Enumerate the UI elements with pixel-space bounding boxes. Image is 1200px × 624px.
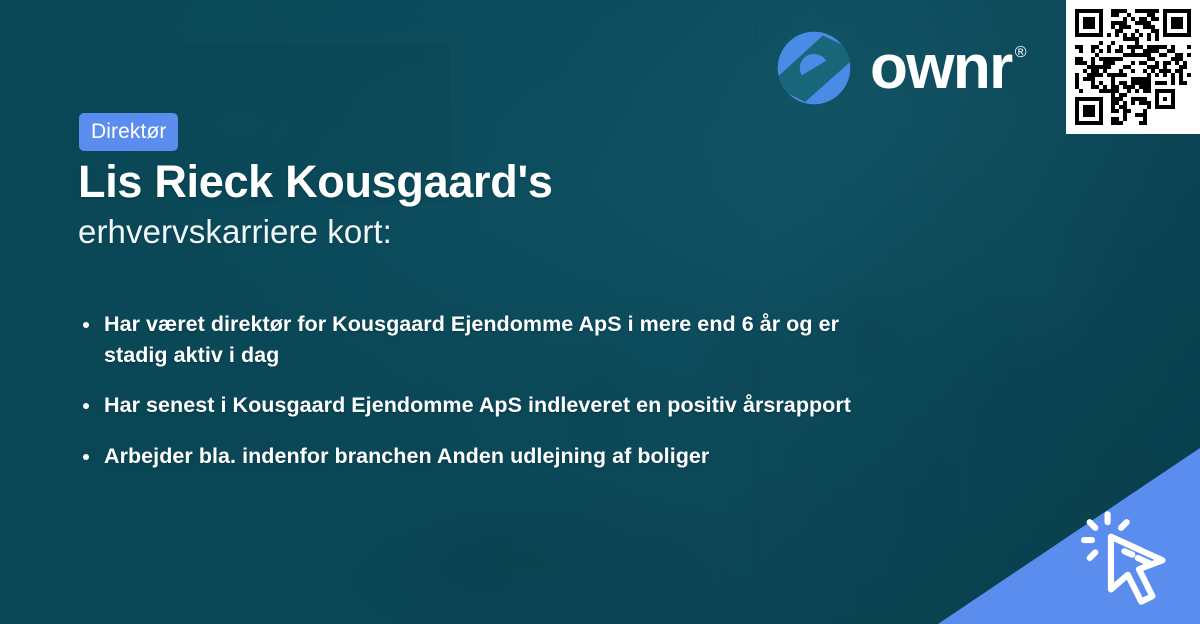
role-badge: Direktør bbox=[79, 113, 178, 151]
page-subtitle: erhvervskarriere kort: bbox=[78, 213, 392, 251]
ownr-wordmark: ownr ® bbox=[870, 39, 1027, 98]
qr-code-icon bbox=[1075, 9, 1191, 125]
promo-card: Direktør Lis Rieck Kousgaard's erhvervsk… bbox=[0, 0, 1200, 624]
corner-triangle bbox=[938, 448, 1200, 624]
registered-trademark-icon: ® bbox=[1015, 45, 1027, 60]
list-item: Har senest i Kousgaard Ejendomme ApS ind… bbox=[79, 390, 899, 421]
ownr-wordmark-text: ownr bbox=[870, 39, 1012, 98]
career-highlights-list: Har været direktør for Kousgaard Ejendom… bbox=[79, 309, 899, 471]
qr-code-panel[interactable] bbox=[1066, 0, 1200, 134]
list-item: Arbejder bla. indenfor branchen Anden ud… bbox=[79, 441, 899, 472]
card-content: Direktør Lis Rieck Kousgaard's erhvervsk… bbox=[0, 0, 1200, 624]
ownr-logo[interactable]: ownr ® bbox=[777, 31, 1027, 105]
ownr-circle-swirl-icon bbox=[777, 31, 851, 105]
page-title: Lis Rieck Kousgaard's bbox=[78, 158, 553, 207]
click-cursor-icon bbox=[1074, 502, 1186, 614]
list-item: Har været direktør for Kousgaard Ejendom… bbox=[79, 309, 899, 370]
corner-accent bbox=[938, 448, 1200, 624]
